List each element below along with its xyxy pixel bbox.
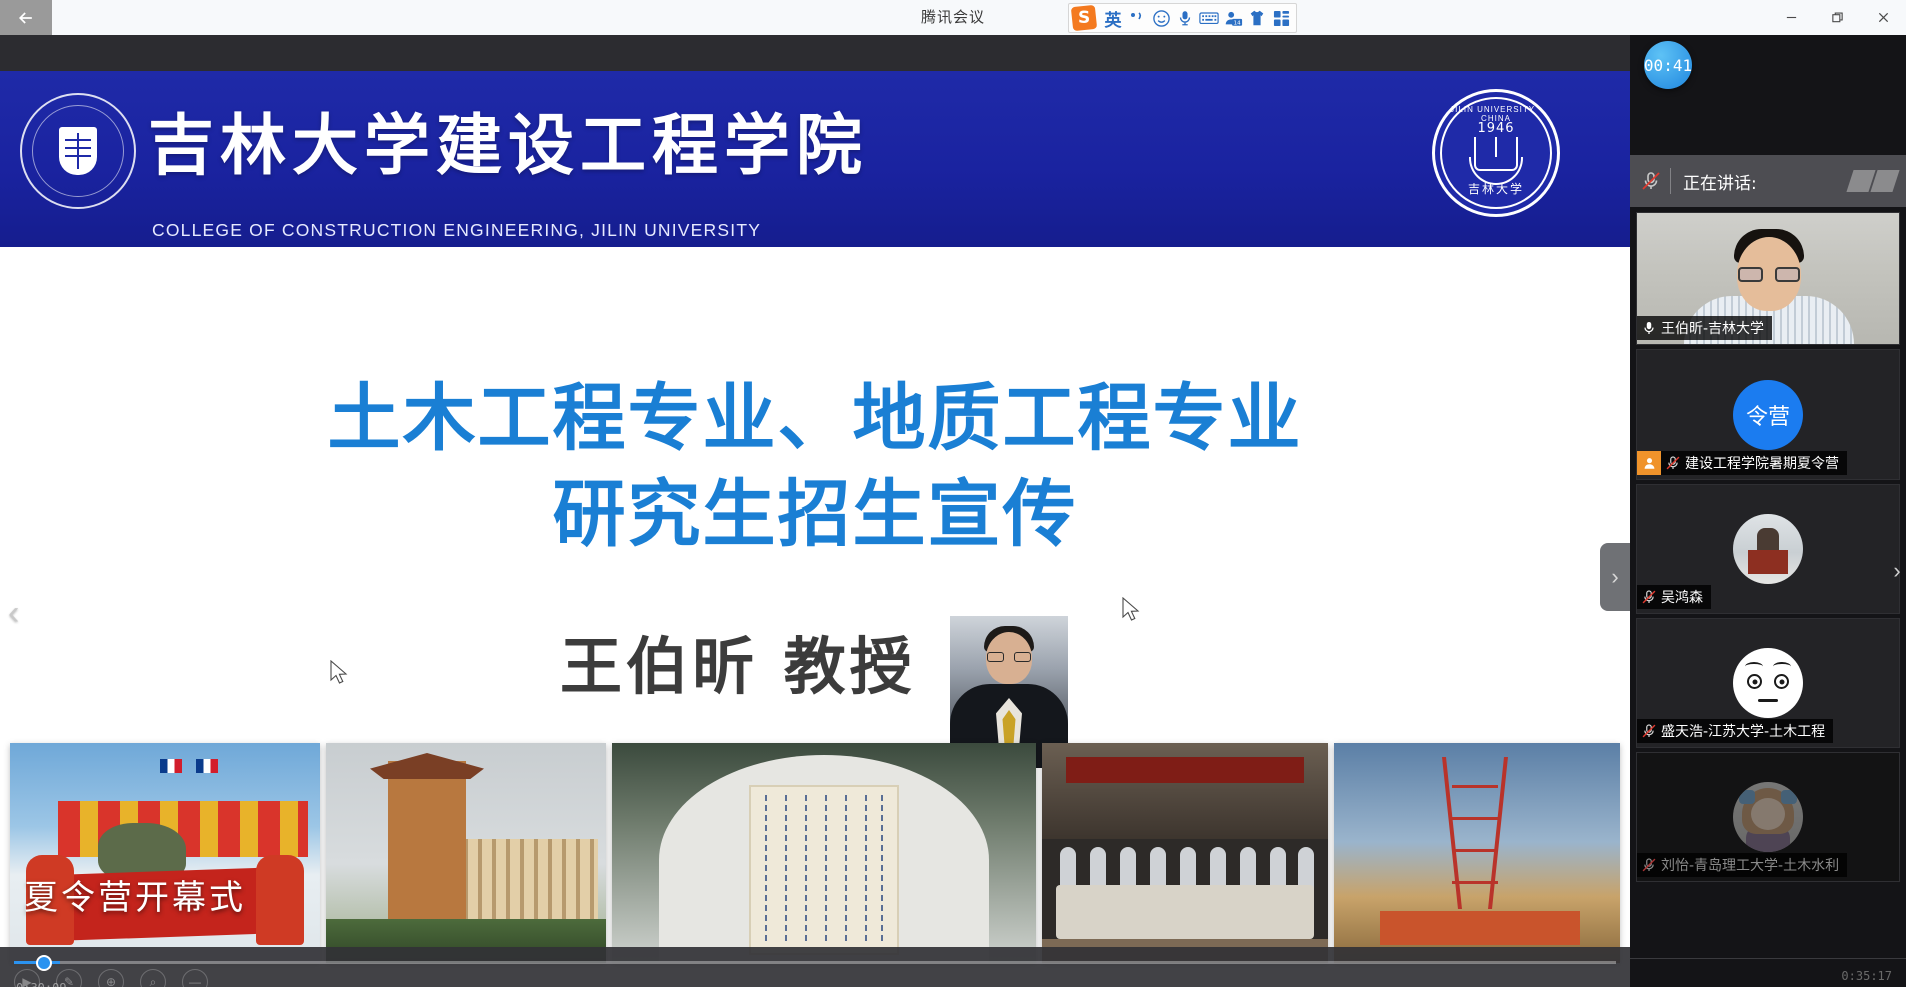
presentation-slide[interactable]: 吉林大学建设工程学院 COLLEGE OF CONSTRUCTION ENGIN… — [0, 71, 1630, 987]
photo-snow-sculpture — [612, 743, 1036, 963]
panel-next-page-arrow[interactable]: › — [1888, 543, 1906, 599]
photo-opening-ceremony — [10, 743, 320, 963]
host-badge-icon — [1637, 451, 1661, 475]
mic-muted-icon — [1661, 455, 1685, 471]
microphone-muted-icon — [1641, 857, 1657, 873]
participant-tile-3[interactable]: 吴鸿森 — [1636, 484, 1900, 614]
meeting-window: 腾讯会议 S 英 — [0, 0, 1906, 987]
seal-year: 1946 — [1442, 121, 1550, 136]
slide-header-banner: 吉林大学建设工程学院 COLLEGE OF CONSTRUCTION ENGIN… — [0, 71, 1630, 247]
microphone-muted-icon — [1641, 589, 1657, 605]
ime-user-center-icon[interactable]: 14 — [1221, 4, 1245, 32]
slide-prev-arrow[interactable]: ‹ — [8, 596, 19, 630]
participant-name: 刘怡-青岛理工大学-土木水利 — [1661, 855, 1839, 875]
panel-divider — [1630, 958, 1906, 959]
participant-avatar — [1733, 514, 1803, 584]
video-player-bar[interactable]: ▶ ✎ ⊕ ⌕ — 0:30:09 — [0, 947, 1630, 987]
participant-avatar: 令营 — [1733, 380, 1803, 450]
restore-icon — [1831, 11, 1844, 24]
participant-tile-4[interactable]: 盛天浩-江苏大学-土木工程 — [1636, 618, 1900, 748]
slide-main-title: 土木工程专业、地质工程专业 研究生招生宣传 — [0, 371, 1630, 564]
meeting-elapsed-time: 0:35:17 — [1841, 969, 1892, 983]
participant-name-bar: 盛天浩-江苏大学-土木工程 — [1637, 719, 1833, 743]
presenter-name: 王伯昕 教授 — [560, 616, 916, 706]
smiley-icon — [1152, 9, 1171, 28]
photo-signing-ceremony — [1042, 743, 1328, 963]
progress-track[interactable] — [14, 961, 1616, 964]
ime-skin-icon[interactable] — [1245, 4, 1269, 32]
college-english-name: COLLEGE OF CONSTRUCTION ENGINEERING, JIL… — [152, 220, 761, 241]
microphone-muted-icon — [1641, 723, 1657, 739]
participant-tile-1[interactable]: 王伯昕-吉林大学 — [1636, 212, 1900, 345]
microphone-icon — [1176, 9, 1194, 27]
window-title: 腾讯会议 — [0, 0, 1906, 35]
participant-name-bar: 刘怡-青岛理工大学-土木水利 — [1637, 853, 1847, 877]
slide-title-line-2: 研究生招生宣传 — [0, 467, 1630, 563]
minimize-toolbar-button[interactable]: — — [182, 969, 208, 987]
mic-muted-icon — [1637, 857, 1661, 873]
close-icon — [1877, 11, 1890, 24]
ime-toolbar[interactable]: S 英 — [1068, 3, 1297, 33]
svg-text:14: 14 — [1234, 20, 1241, 26]
person-icon — [1642, 456, 1657, 471]
ime-toolbox-icon[interactable] — [1269, 4, 1293, 32]
participant-avatar — [1733, 782, 1803, 852]
mic-muted-icon — [1640, 170, 1662, 192]
active-speaker-bar: 正在讲话: — [1630, 155, 1906, 207]
tshirt-icon — [1248, 9, 1266, 27]
participant-name: 吴鸿森 — [1661, 587, 1703, 607]
participant-name-bar: 吴鸿森 — [1637, 585, 1711, 609]
participant-name: 盛天浩-江苏大学-土木工程 — [1661, 721, 1825, 741]
university-seal-icon: JILIN UNIVERSITY · CHINA 1946 吉林大学 — [1432, 89, 1560, 217]
avatar-initials: 令营 — [1746, 399, 1790, 431]
ime-punctuation-toggle[interactable] — [1125, 4, 1149, 32]
minimize-button[interactable] — [1768, 0, 1814, 35]
photo-drilling-rig — [1334, 743, 1620, 963]
participant-tile-5[interactable]: 刘怡-青岛理工大学-土木水利 — [1636, 752, 1900, 882]
sogou-logo-icon[interactable]: S — [1069, 3, 1099, 33]
slide-title-line-1: 土木工程专业、地质工程专业 — [328, 376, 1303, 461]
participants-panel: 00:41 正在讲话: — [1630, 35, 1906, 987]
shared-screen-next-tab[interactable]: › — [1600, 543, 1630, 611]
participant-name-bar: 建设工程学院暑期夏令营 — [1637, 451, 1847, 475]
slide-photo-strip: 夏令营开幕式 — [0, 743, 1630, 963]
grid-icon — [1273, 10, 1290, 27]
microphone-muted-icon — [1665, 455, 1681, 471]
microphone-icon — [1641, 320, 1657, 336]
ime-voice-input-icon[interactable] — [1173, 4, 1197, 32]
mic-on-icon — [1637, 320, 1661, 336]
participant-avatar — [1733, 648, 1803, 718]
college-seal-icon — [20, 93, 136, 209]
active-speaker-label: 正在讲话: — [1683, 169, 1757, 194]
user-badge-icon: 14 — [1223, 9, 1243, 27]
speaking-waveform-icon — [1850, 170, 1896, 192]
ime-emoji-icon[interactable] — [1149, 4, 1173, 32]
window-controls — [1768, 0, 1906, 35]
close-button[interactable] — [1860, 0, 1906, 35]
photo-caption: 夏令营开幕式 — [24, 870, 246, 919]
photo-campus-building — [326, 743, 606, 963]
player-elapsed-time: 0:30:09 — [16, 981, 67, 987]
shared-screen-stage: 吉林大学建设工程学院 COLLEGE OF CONSTRUCTION ENGIN… — [0, 35, 1630, 987]
college-chinese-name: 吉林大学建设工程学院 — [148, 113, 868, 179]
sogou-logo-letter: S — [1078, 8, 1090, 28]
keyboard-icon — [1199, 10, 1219, 26]
mic-muted-icon — [1637, 589, 1661, 605]
meeting-timer-badge[interactable]: 00:41 — [1644, 41, 1692, 89]
stamp-button[interactable]: ⊕ — [98, 969, 124, 987]
minimize-icon — [1785, 11, 1798, 24]
participant-name-bar: 王伯昕-吉林大学 — [1637, 316, 1772, 340]
restore-button[interactable] — [1814, 0, 1860, 35]
participant-tile-2[interactable]: 令营 — [1636, 349, 1900, 480]
participant-name: 王伯昕-吉林大学 — [1661, 318, 1764, 338]
mic-muted-icon — [1637, 723, 1661, 739]
seal-cn-name: 吉林大学 — [1442, 180, 1550, 197]
ime-soft-keyboard-icon[interactable] — [1197, 4, 1221, 32]
ime-mode-toggle[interactable]: 英 — [1101, 4, 1125, 32]
punctuation-icon — [1128, 9, 1146, 27]
participant-name: 建设工程学院暑期夏令营 — [1685, 453, 1839, 473]
title-bar: 腾讯会议 S 英 — [0, 0, 1906, 35]
zoom-button[interactable]: ⌕ — [140, 969, 166, 987]
